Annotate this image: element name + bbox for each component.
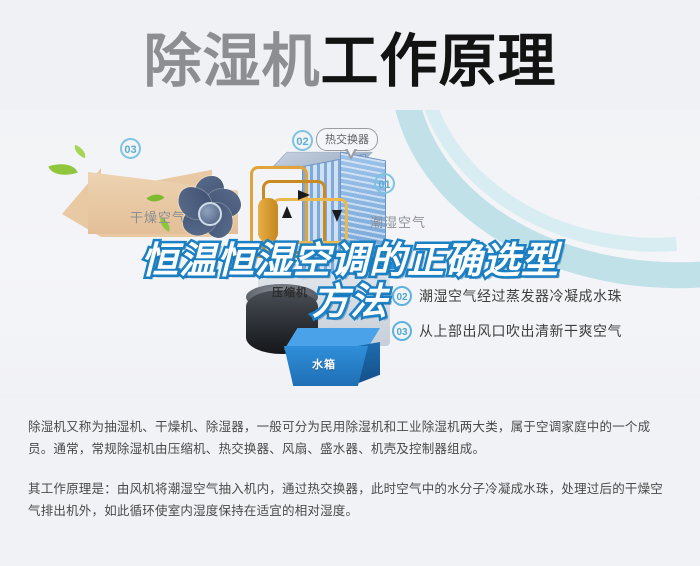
callout-badge-03: 03 xyxy=(120,138,141,159)
steps-list: 01 风机将潮湿空气抽入机内 02 潮湿空气经过蒸发器冷凝成水珠 03 从上部出… xyxy=(392,249,692,354)
leaf-icon xyxy=(72,145,88,159)
receiver-cylinder xyxy=(258,198,278,242)
body-paragraph-2: 其工作原理是：由风机将潮湿空气抽入机内，通过热交换器，此时空气中的水分子冷凝成水… xyxy=(28,478,672,522)
compressor-label: 压缩机 xyxy=(272,284,308,300)
step-label: 潮湿空气经过蒸发器冷凝成水珠 xyxy=(419,286,622,306)
step-badge: 03 xyxy=(392,321,412,341)
flow-arrow-right-icon xyxy=(298,190,310,200)
step-item-01: 01 风机将潮湿空气抽入机内 xyxy=(392,249,692,273)
callout-badge-01: 01 xyxy=(374,173,395,194)
step-badge: 02 xyxy=(392,286,412,306)
callout-pointer-icon xyxy=(345,149,357,160)
step-item-02: 02 潮湿空气经过蒸发器冷凝成水珠 xyxy=(392,284,692,308)
water-tank-icon: 水箱 xyxy=(284,328,380,386)
title-gray-part: 除湿机 xyxy=(143,29,320,94)
fan-hub xyxy=(198,202,222,226)
step-item-03: 03 从上部出风口吹出清新干爽空气 xyxy=(392,319,692,343)
flow-arrow-down-icon xyxy=(332,210,342,222)
humid-air-label: 潮湿空气 xyxy=(370,212,426,231)
body-paragraph-1: 除湿机又称为抽湿机、干燥机、除湿器，一般可分为民用除湿机和工业除湿机两大类，属于… xyxy=(28,416,672,460)
callout-badge-02: 02 xyxy=(292,130,313,151)
leaf-icon xyxy=(48,158,77,180)
body-copy: 除湿机又称为抽湿机、干燥机、除湿器，一般可分为民用除湿机和工业除湿机两大类，属于… xyxy=(0,398,700,566)
page-title: 除湿机工作原理 xyxy=(0,26,700,98)
intake-arrow-icon xyxy=(358,256,374,274)
flow-arrow-up-icon xyxy=(282,206,292,218)
infographic-page: 除湿机工作原理 03 干燥空气 xyxy=(0,0,700,566)
water-tank-label: 水箱 xyxy=(312,356,336,372)
title-black-part: 工作原理 xyxy=(321,29,557,94)
step-label: 从上部出风口吹出清新干爽空气 xyxy=(419,321,622,341)
